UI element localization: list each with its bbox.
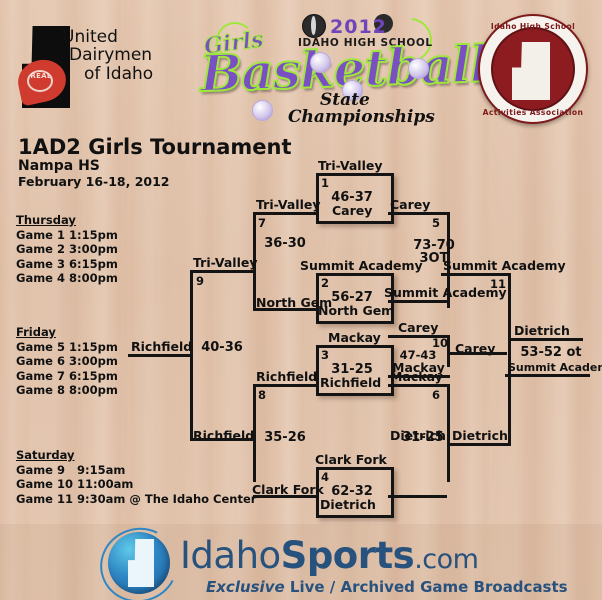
sponsor-line-3: of Idaho <box>62 65 192 83</box>
schedule-game-item: Game 1 1:15pm <box>16 228 118 243</box>
basketball-bullet-icon <box>408 58 429 79</box>
basketball-icon <box>302 14 326 38</box>
game9-top-line <box>190 270 253 273</box>
game8-score: 35-26 <box>249 430 321 445</box>
brand-dotcom: .com <box>414 544 478 575</box>
game5-bottom-team: Summit Academy <box>384 285 507 300</box>
game7-top-line <box>253 212 316 215</box>
bracket-page: REAL United Dairymen of Idaho 2012 IDAHO… <box>0 0 602 600</box>
game1-bottom-team: Carey <box>332 203 372 218</box>
sponsor-line-2: Dairymen <box>62 46 192 64</box>
game9-bottom-line <box>190 438 253 441</box>
schedule-game-item: Game 5 1:15pm <box>16 340 118 355</box>
game10-bottom-team: Mackay <box>392 360 445 375</box>
game9-winner-team: Richfield <box>131 339 192 354</box>
game3-number: 3 <box>321 348 329 362</box>
game6-winner-team: Dietrich <box>452 428 508 443</box>
game8-top-line <box>253 384 316 387</box>
game10-bottom-line <box>388 375 450 378</box>
game4-top-team: Clark Fork <box>315 452 387 467</box>
game9-number: 9 <box>196 274 204 288</box>
game7-bottom-line <box>253 308 316 311</box>
brand-idaho: Idaho <box>180 534 281 577</box>
game1-top-team: Tri-Valley <box>318 158 383 173</box>
game10-top-team: Carey <box>398 320 438 335</box>
basketball-bullet-icon <box>252 100 273 121</box>
dates-label: February 16-18, 2012 <box>18 174 170 189</box>
idahosports-brand: IdahoSports.com <box>180 534 478 577</box>
association-bottom-text: Activities Association <box>480 108 586 117</box>
game11-winner-team: Dietrich <box>514 323 570 338</box>
sponsor-name: United Dairymen of Idaho <box>62 28 192 83</box>
game10-winner-line <box>447 352 507 355</box>
idahosports-tagline: Exclusive Live / Archived Game Broadcast… <box>206 578 568 596</box>
united-dairymen-of-idaho-logo: REAL United Dairymen of Idaho <box>18 18 188 118</box>
game5-winner-line <box>441 273 511 276</box>
game4-bottom-team: Dietrich <box>320 497 376 512</box>
game5-bottom-line <box>388 300 447 303</box>
venue-label: Nampa HS <box>18 158 100 174</box>
tagline-rest: Live / Archived Game Broadcasts <box>290 578 568 596</box>
schedule-saturday: Saturday Game 9 9:15am Game 10 11:00am G… <box>16 448 256 506</box>
real-badge-text: REAL <box>27 72 55 80</box>
game11-score: 53-52 ot <box>511 345 591 360</box>
game7-top-team: Tri-Valley <box>256 197 321 212</box>
game11-number: 11 <box>490 277 506 291</box>
game6-bottom-line <box>388 495 447 498</box>
game2-number: 2 <box>321 276 329 290</box>
schedule-game-item: Game 2 3:00pm <box>16 242 118 257</box>
game6-bottom-team: Dietrich <box>390 428 446 443</box>
game6-winner-line <box>450 443 511 446</box>
schedule-day-label: Saturday <box>16 448 256 463</box>
schedule-day-label: Thursday <box>16 213 118 228</box>
event-title-logo: 2012 IDAHO HIGH SCHOOL Girls Basketball … <box>192 8 444 130</box>
schedule-game-item: Game 7 6:15pm <box>16 369 118 384</box>
game8-bottom-line <box>253 495 316 498</box>
brand-sports: Sports <box>281 534 415 577</box>
game5-winner-team: Summit Academy <box>443 258 566 273</box>
game6-number: 6 <box>432 388 440 402</box>
association-top-text: Idaho High School <box>480 22 586 31</box>
event-year: 2012 <box>330 16 387 38</box>
game7-number: 7 <box>258 216 266 230</box>
game6-top-line <box>388 384 450 387</box>
game5-number: 5 <box>432 216 440 230</box>
schedule-game-item: Game 10 11:00am <box>16 477 256 492</box>
game9-top-team: Tri-Valley <box>193 255 258 270</box>
game11-runner-up-line <box>505 374 590 377</box>
game5-top-line <box>388 212 450 215</box>
game8-top-team: Richfield <box>256 369 317 384</box>
game7-score: 36-30 <box>249 236 321 251</box>
game5-top-team: Carey <box>390 197 430 212</box>
game11-runner-up-team: Summit Academy <box>508 361 602 374</box>
tagline-exclusive: Exclusive <box>206 578 285 596</box>
event-championships-word: Championships <box>288 107 435 127</box>
sponsor-line-1: United <box>62 28 192 46</box>
game3-top-team: Mackay <box>328 330 381 345</box>
schedule-game-item: Game 6 3:00pm <box>16 354 118 369</box>
game11-winner-line <box>511 338 583 341</box>
schedule-thursday: Thursday Game 1 1:15pm Game 2 3:00pm Gam… <box>16 213 118 286</box>
idaho-high-school-activities-association-logo: Idaho High School Activities Association <box>478 14 588 124</box>
schedule-friday: Friday Game 5 1:15pm Game 6 3:00pm Game … <box>16 325 118 398</box>
schedule-game-item: Game 3 6:15pm <box>16 257 118 272</box>
game9-score: 40-36 <box>186 340 258 355</box>
schedule-game-item: Game 4 8:00pm <box>16 271 118 286</box>
schedule-game-item: Game 9 9:15am <box>16 463 256 478</box>
game8-number: 8 <box>258 388 266 402</box>
schedule-game-item: Game 8 8:00pm <box>16 383 118 398</box>
game9-winner-line <box>128 354 191 357</box>
game3-bottom-team: Richfield <box>320 375 381 390</box>
idahosports-footer-banner: IdahoSports.com Exclusive Live / Archive… <box>0 524 602 600</box>
game1-number: 1 <box>321 176 329 190</box>
schedule-day-label: Friday <box>16 325 118 340</box>
page-title: 1AD2 Girls Tournament <box>18 135 292 159</box>
basketball-bullet-icon <box>310 52 331 73</box>
schedule-game-item: Game 11 9:30am @ The Idaho Center <box>16 492 256 507</box>
